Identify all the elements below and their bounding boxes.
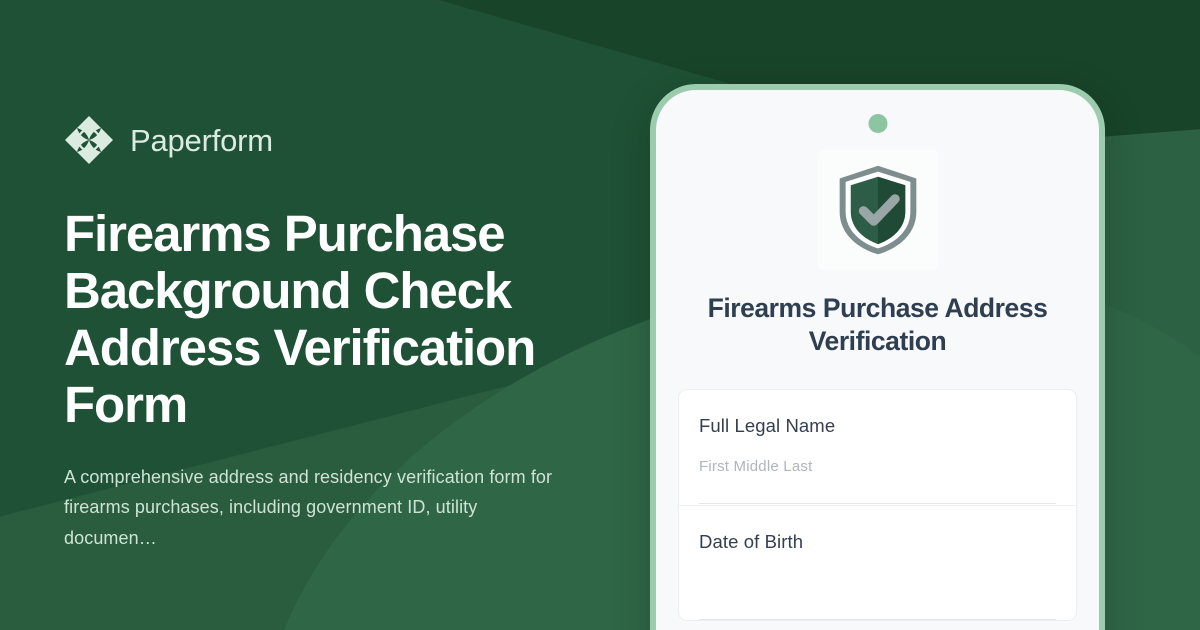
page-title: Firearms Purchase Background Check Addre… bbox=[64, 206, 584, 433]
field-label: Full Legal Name bbox=[699, 415, 1056, 437]
paperform-rosette-icon bbox=[64, 115, 114, 165]
form-preview-screen: Firearms Purchase Address Verification F… bbox=[656, 90, 1099, 630]
full-legal-name-input[interactable]: First Middle Last bbox=[699, 458, 1056, 504]
field-label: Date of Birth bbox=[699, 531, 1056, 553]
hero-panel: Paperform Firearms Purchase Background C… bbox=[0, 0, 620, 630]
social-share-card: Paperform Firearms Purchase Background C… bbox=[0, 0, 1200, 630]
phone-mockup: Firearms Purchase Address Verification F… bbox=[650, 84, 1105, 630]
page-description: A comprehensive address and residency ve… bbox=[64, 462, 574, 552]
brand-name: Paperform bbox=[130, 125, 273, 156]
date-of-birth-input[interactable] bbox=[699, 574, 1056, 620]
brand-logo: Paperform bbox=[64, 112, 620, 168]
shield-check-icon bbox=[835, 164, 921, 256]
field-placeholder: First Middle Last bbox=[699, 458, 812, 476]
form-title: Firearms Purchase Address Verification bbox=[686, 292, 1069, 359]
form-logo bbox=[818, 150, 938, 270]
form-card: Full Legal Name First Middle Last Date o… bbox=[678, 389, 1077, 621]
form-field-full-legal-name: Full Legal Name First Middle Last bbox=[679, 390, 1076, 505]
form-field-date-of-birth: Date of Birth bbox=[679, 505, 1076, 620]
